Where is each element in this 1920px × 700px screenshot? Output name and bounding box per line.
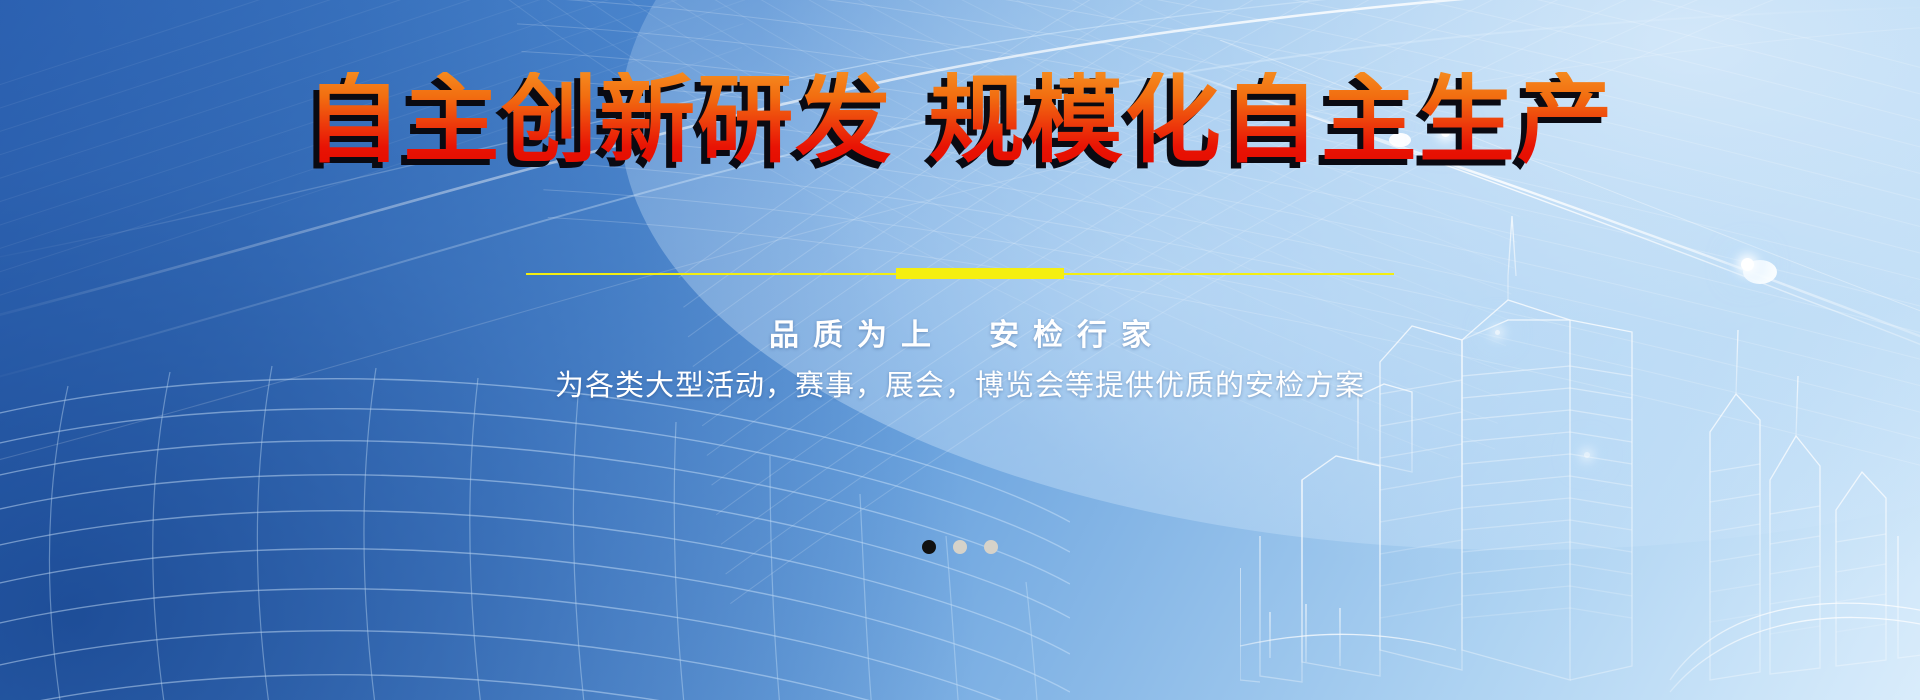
divider-center-block xyxy=(896,268,1064,279)
carousel-indicators[interactable] xyxy=(0,540,1920,554)
banner-headline: 自主创新研发 规模化自主生产 xyxy=(305,72,1614,168)
banner-content: 自主创新研发 规模化自主生产 品质为上 安检行家 为各类大型活动，赛事，展会，博… xyxy=(0,0,1920,700)
carousel-dot-1[interactable] xyxy=(922,540,936,554)
divider-rule-left xyxy=(526,273,896,275)
banner-subtitle: 品质为上 安检行家 xyxy=(0,310,1920,354)
carousel-dot-2[interactable] xyxy=(953,540,967,554)
hero-banner: 自主创新研发 规模化自主生产 品质为上 安检行家 为各类大型活动，赛事，展会，博… xyxy=(0,0,1920,700)
divider-rule-right xyxy=(1064,273,1394,275)
page-title: 自主创新研发 规模化自主生产 xyxy=(0,72,1920,168)
banner-description: 为各类大型活动，赛事，展会，博览会等提供优质的安检方案 xyxy=(0,362,1920,404)
carousel-dot-3[interactable] xyxy=(984,540,998,554)
yellow-divider xyxy=(0,268,1920,279)
